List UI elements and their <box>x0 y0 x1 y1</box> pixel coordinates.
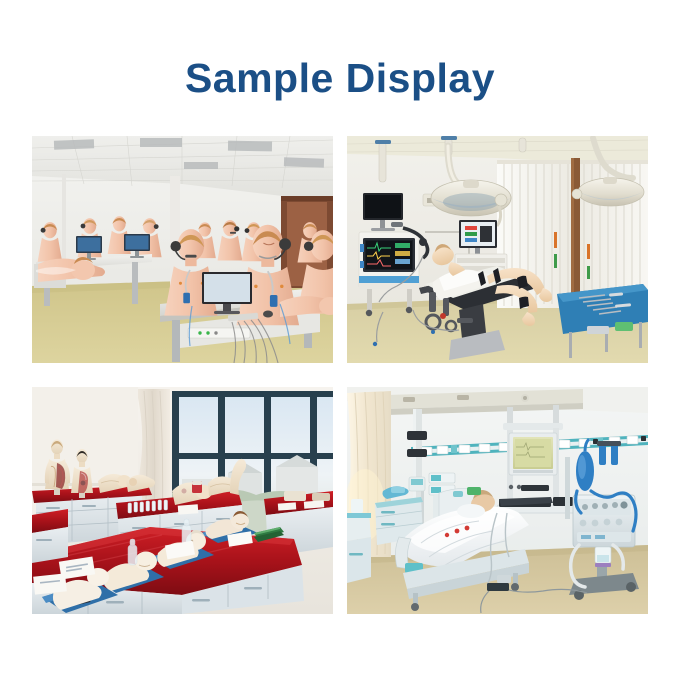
icu-ventilator-room-image <box>347 387 648 614</box>
gallery-photo-3[interactable] <box>32 387 333 614</box>
classroom-cpr-manikins-image <box>32 136 333 363</box>
sample-photo-gallery <box>32 136 648 614</box>
model-lab-red-benches-image <box>32 387 333 614</box>
page-title: Sample Display <box>185 56 495 101</box>
gallery-photo-2[interactable] <box>347 136 648 363</box>
operating-room-simulator-image <box>347 136 648 363</box>
gallery-photo-1[interactable] <box>32 136 333 363</box>
page-header: Sample Display <box>0 56 680 101</box>
gallery-photo-4[interactable] <box>347 387 648 614</box>
sample-display-page: Sample Display <box>0 0 680 680</box>
